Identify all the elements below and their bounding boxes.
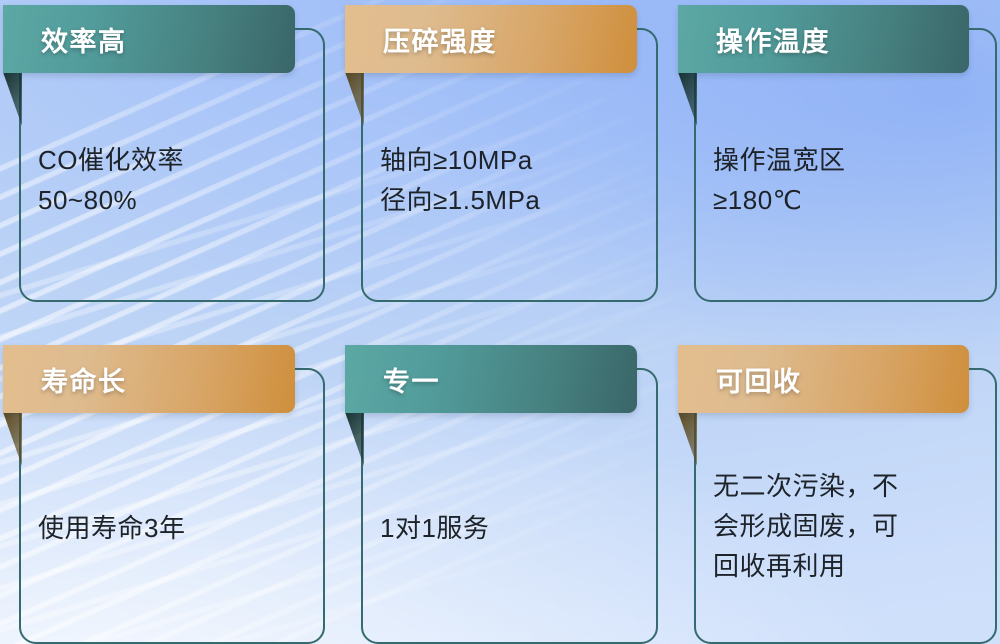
card-header-banner[interactable]: 操作温度 — [678, 5, 969, 73]
card-fold-corner — [3, 412, 22, 466]
card-body-text: 操作温宽区 ≥180℃ — [713, 140, 846, 220]
card-body-text: 轴向≥10MPa 径向≥1.5MPa — [380, 140, 540, 220]
feature-card-grid: 效率高CO催化效率 50~80%压碎强度轴向≥10MPa 径向≥1.5MPa操作… — [0, 0, 1000, 644]
feature-card-recyclable[interactable]: 可回收无二次污染，不 会形成固废，可 回收再利用 — [675, 340, 997, 644]
card-header-title: 寿命长 — [41, 360, 127, 399]
card-fold-corner — [3, 72, 22, 126]
card-header-banner[interactable]: 专一 — [345, 345, 637, 413]
card-body-text: 无二次污染，不 会形成固废，可 回收再利用 — [713, 466, 899, 586]
feature-card-long-lifetime[interactable]: 寿命长使用寿命3年 — [0, 340, 325, 644]
card-header-title: 压碎强度 — [383, 20, 497, 59]
card-fold-corner — [345, 72, 364, 126]
card-fold-corner — [345, 412, 364, 466]
card-body-text: 使用寿命3年 — [38, 508, 185, 548]
card-fold-corner — [678, 72, 697, 126]
feature-card-crush-strength[interactable]: 压碎强度轴向≥10MPa 径向≥1.5MPa — [342, 0, 658, 302]
feature-card-dedicated-service[interactable]: 专一1对1服务 — [342, 340, 658, 644]
card-header-banner[interactable]: 可回收 — [678, 345, 969, 413]
card-header-banner[interactable]: 寿命长 — [3, 345, 295, 413]
feature-card-operating-temperature[interactable]: 操作温度操作温宽区 ≥180℃ — [675, 0, 997, 302]
card-header-banner[interactable]: 压碎强度 — [345, 5, 637, 73]
card-body-text: 1对1服务 — [380, 508, 489, 548]
card-header-title: 效率高 — [41, 20, 127, 59]
card-header-title: 专一 — [383, 360, 440, 399]
card-header-banner[interactable]: 效率高 — [3, 5, 295, 73]
card-fold-corner — [678, 412, 697, 466]
feature-card-efficiency[interactable]: 效率高CO催化效率 50~80% — [0, 0, 325, 302]
card-header-title: 可回收 — [716, 360, 802, 399]
card-body-text: CO催化效率 50~80% — [38, 140, 184, 220]
card-header-title: 操作温度 — [716, 20, 830, 59]
